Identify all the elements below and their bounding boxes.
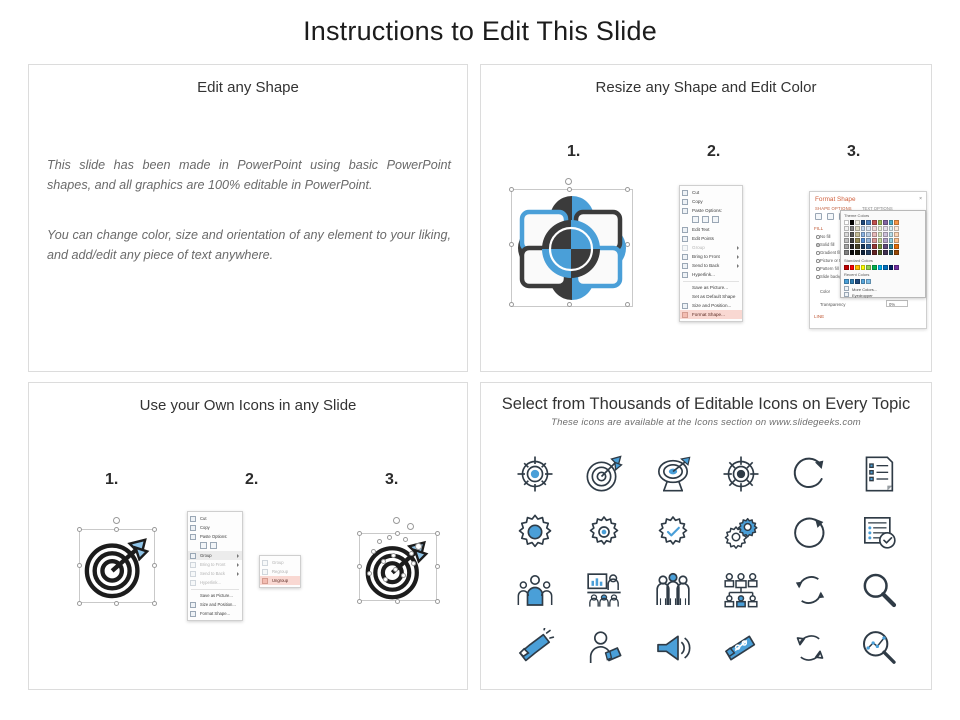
edit-shape-paragraph-1: This slide has been made in PowerPoint u… — [47, 155, 451, 196]
color-swatch[interactable] — [872, 226, 877, 231]
chevron-right-icon — [237, 572, 239, 576]
refresh-circle-icon[interactable] — [790, 512, 830, 552]
color-swatch[interactable] — [878, 244, 883, 249]
edit-shape-paragraph-2: You can change color, size and orientati… — [47, 225, 451, 266]
ctx-item-hyperlink[interactable]: Hyperlink... — [680, 270, 742, 279]
format-shape-pane[interactable]: Format Shape × SHAPE OPTIONS TEXT OPTION… — [809, 191, 927, 329]
standard-colors-label: Standard Colors — [844, 258, 873, 263]
ctx-item-copy[interactable]: Copy — [680, 197, 742, 206]
eyedropper-item[interactable]: Eyedropper — [852, 293, 873, 298]
group-icon — [262, 560, 268, 566]
submenu-item-group: Group — [260, 558, 300, 567]
color-swatch[interactable] — [861, 279, 866, 284]
color-swatch[interactable] — [883, 244, 888, 249]
ctx2-item-hyperlink: Hyperlink... — [188, 578, 242, 587]
submenu-item-regroup: Regroup — [260, 567, 300, 576]
chevron-right-icon — [237, 563, 239, 567]
color-swatch[interactable] — [894, 238, 899, 243]
people-row-icon[interactable] — [653, 570, 693, 610]
edit-points-icon — [682, 236, 688, 242]
size-position-icon — [682, 303, 688, 309]
color-swatch[interactable] — [850, 238, 855, 243]
format-shape-icon — [190, 611, 196, 617]
radio-solid-fill[interactable] — [816, 243, 820, 247]
transparency-value: 0% — [889, 302, 895, 307]
color-swatch[interactable] — [855, 244, 860, 249]
color-swatch[interactable] — [855, 250, 860, 255]
theme-color-row-2[interactable] — [844, 226, 899, 231]
paste-keep-text-icon[interactable] — [712, 216, 719, 223]
ctx2-item-group[interactable]: Group — [188, 551, 242, 560]
color-swatch[interactable] — [844, 238, 849, 243]
close-icon[interactable]: × — [919, 196, 922, 202]
icon-gallery-grid — [501, 445, 913, 677]
color-swatch[interactable] — [855, 265, 860, 270]
paste-picture-icon[interactable] — [210, 542, 217, 549]
more-colors-item[interactable]: More Colors... — [852, 287, 877, 292]
format-shape-icon — [682, 312, 688, 318]
edit-text-icon — [682, 227, 688, 233]
ctx2-item-cut[interactable]: Cut — [188, 514, 242, 523]
document-approved-icon[interactable] — [859, 512, 899, 552]
icons-step-number-3: 3. — [385, 471, 398, 489]
color-swatch[interactable] — [866, 238, 871, 243]
color-swatch[interactable] — [894, 265, 899, 270]
color-swatch[interactable] — [878, 232, 883, 237]
color-swatch[interactable] — [878, 250, 883, 255]
ctx-item-edit-points[interactable]: Edit Points — [680, 234, 742, 243]
gear-check-icon[interactable] — [653, 512, 693, 552]
copy-icon — [682, 199, 688, 205]
page-title: Instructions to Edit This Slide — [0, 16, 960, 47]
color-swatch[interactable] — [878, 226, 883, 231]
circular-arrows-icon[interactable] — [790, 628, 830, 668]
label-solid-fill: Solid fill — [820, 242, 834, 247]
label-gradient-fill: Gradient fill — [820, 250, 841, 255]
chevron-right-icon — [737, 264, 739, 268]
team-group-icon[interactable] — [515, 570, 555, 610]
step-number-1: 1. — [567, 143, 580, 161]
cut-icon — [190, 516, 196, 522]
theme-color-row-1[interactable] — [844, 220, 899, 225]
color-swatch[interactable] — [844, 220, 849, 225]
menu-divider — [191, 589, 239, 590]
recent-colors-label: Recent Colors — [844, 272, 869, 277]
slide-canvas: Instructions to Edit This Slide Edit any… — [0, 0, 960, 720]
paste-option-icons[interactable] — [188, 541, 242, 551]
label-color: Color — [820, 289, 830, 294]
ctx2-item-send-to-back: Send to Back — [188, 569, 242, 578]
bring-to-front-icon — [190, 562, 196, 568]
gear-small-icon[interactable] — [584, 512, 624, 552]
speaker-announce-icon[interactable] — [653, 628, 693, 668]
icons-step-number-1: 1. — [105, 471, 118, 489]
panel-own-icons: Use your Own Icons in any Slide 1. 2. 3. — [28, 382, 468, 690]
icons-context-menu[interactable]: Cut Copy Paste Options: Group Bring to F… — [187, 511, 243, 621]
ctx-item-send-to-back[interactable]: Send to Back — [680, 261, 742, 270]
group-icon — [682, 245, 688, 251]
chevron-right-icon — [237, 554, 239, 558]
panel-heading-own-icons: Use your Own Icons in any Slide — [29, 397, 467, 414]
hyperlink-icon — [682, 272, 688, 278]
paste-keep-formatting-icon[interactable] — [200, 542, 207, 549]
ctx2-item-paste-options[interactable]: Paste Options: — [188, 532, 242, 541]
paste-option-icons[interactable] — [680, 215, 742, 225]
color-swatch[interactable] — [861, 244, 866, 249]
panel-heading-resize-shape: Resize any Shape and Edit Color — [481, 79, 931, 96]
color-swatch[interactable] — [883, 232, 888, 237]
color-swatch[interactable] — [866, 226, 871, 231]
color-swatch[interactable] — [861, 232, 866, 237]
ctx-item-edit-text[interactable]: Edit Text — [680, 225, 742, 234]
color-swatch[interactable] — [855, 220, 860, 225]
group-submenu[interactable]: Group Regroup Ungroup — [259, 555, 301, 588]
magnifier-analytics-icon[interactable] — [859, 628, 899, 668]
color-swatch[interactable] — [883, 220, 888, 225]
standard-color-row[interactable] — [844, 265, 899, 270]
color-swatch[interactable] — [866, 265, 871, 270]
ctx2-item-format-shape[interactable]: Format Shape... — [188, 609, 242, 618]
color-swatch[interactable] — [872, 238, 877, 243]
color-swatch[interactable] — [889, 226, 894, 231]
chevron-right-icon — [737, 255, 739, 259]
color-swatch[interactable] — [866, 250, 871, 255]
format-shape-title: Format Shape — [815, 196, 856, 203]
submenu-item-ungroup[interactable]: Ungroup — [260, 576, 300, 585]
ctx-item-bring-to-front[interactable]: Bring to Front — [680, 252, 742, 261]
section-fill-label[interactable]: FILL — [814, 226, 823, 231]
color-swatch[interactable] — [894, 220, 899, 225]
color-swatch[interactable] — [861, 265, 866, 270]
effects-pentagon-icon[interactable] — [827, 213, 834, 220]
icons-step3-graphic[interactable] — [347, 513, 447, 613]
ctx-item-cut[interactable]: Cut — [680, 188, 742, 197]
theme-color-row-5[interactable] — [844, 244, 899, 249]
target-crosshair-icon[interactable] — [515, 454, 555, 494]
dartboard-arrow-icon[interactable] — [584, 454, 624, 494]
rotate-clockwise-arrow-icon[interactable] — [790, 454, 830, 494]
panel-edit-any-shape: Edit any Shape This slide has been made … — [28, 64, 468, 372]
chevron-right-icon — [737, 246, 739, 250]
color-swatch[interactable] — [883, 238, 888, 243]
color-swatch[interactable] — [850, 226, 855, 231]
more-colors-icon — [844, 286, 849, 291]
panel-resize-shape: Resize any Shape and Edit Color 1. 2. 3. — [480, 64, 932, 372]
color-swatch[interactable] — [889, 265, 894, 270]
ctx2-item-size-and-position[interactable]: Size and Position... — [188, 600, 242, 609]
panel-subheading-editable-icons: These icons are available at the Icons s… — [481, 417, 931, 428]
color-swatch[interactable] — [889, 232, 894, 237]
color-swatch[interactable] — [866, 279, 871, 284]
color-swatch[interactable] — [872, 265, 877, 270]
group-icon — [190, 553, 196, 559]
color-swatch[interactable] — [844, 250, 849, 255]
panel-editable-icons: Select from Thousands of Editable Icons … — [480, 382, 932, 690]
panel-heading-editable-icons: Select from Thousands of Editable Icons … — [481, 395, 931, 414]
ctx-item-format-shape[interactable]: Format Shape... — [680, 310, 742, 319]
megaphone-discount-icon[interactable] — [721, 628, 761, 668]
radio-picture-fill[interactable] — [816, 259, 820, 263]
theme-color-row-4[interactable] — [844, 238, 899, 243]
paste-icon — [682, 208, 688, 214]
color-swatch[interactable] — [844, 232, 849, 237]
color-swatch[interactable] — [850, 232, 855, 237]
resize-context-menu[interactable]: Cut Copy Paste Options: Edit Text Edit P… — [679, 185, 743, 322]
icons-step-number-2: 2. — [245, 471, 258, 489]
color-swatch[interactable] — [872, 232, 877, 237]
step-number-3: 3. — [847, 143, 860, 161]
color-swatch[interactable] — [844, 226, 849, 231]
color-swatch[interactable] — [844, 244, 849, 249]
menu-divider — [683, 281, 739, 282]
color-swatch[interactable] — [872, 244, 877, 249]
color-swatch[interactable] — [883, 265, 888, 270]
fill-bucket-icon[interactable] — [815, 213, 822, 220]
target-stand-icon[interactable] — [653, 454, 693, 494]
hyperlink-icon — [190, 580, 196, 586]
radio-no-fill[interactable] — [816, 235, 820, 239]
theme-color-row-6[interactable] — [844, 250, 899, 255]
panel-heading-edit-shape: Edit any Shape — [29, 79, 467, 96]
resize-step1-graphic[interactable] — [505, 183, 639, 313]
icons-step1-graphic[interactable] — [67, 513, 167, 613]
cut-icon — [682, 190, 688, 196]
magnifier-icon[interactable] — [859, 570, 899, 610]
recent-color-row[interactable] — [844, 279, 871, 284]
color-swatch[interactable] — [894, 244, 899, 249]
section-line-label[interactable]: LINE — [814, 314, 824, 319]
regroup-icon — [262, 569, 268, 575]
color-swatch[interactable] — [883, 250, 888, 255]
color-swatch[interactable] — [861, 220, 866, 225]
ctx-item-paste-options[interactable]: Paste Options: — [680, 206, 742, 215]
color-swatch[interactable] — [878, 238, 883, 243]
send-to-back-icon — [682, 263, 688, 269]
ctx-item-group: Group — [680, 243, 742, 252]
color-swatch[interactable] — [850, 265, 855, 270]
step-number-2: 2. — [707, 143, 720, 161]
color-swatch[interactable] — [883, 226, 888, 231]
color-swatch[interactable] — [866, 244, 871, 249]
color-swatch[interactable] — [844, 279, 849, 284]
color-swatch[interactable] — [866, 232, 871, 237]
color-swatch[interactable] — [889, 220, 894, 225]
label-transparency: Transparency — [820, 302, 845, 307]
crosshair-dot-icon[interactable] — [721, 454, 761, 494]
bring-to-front-icon — [682, 254, 688, 260]
color-swatch[interactable] — [894, 250, 899, 255]
color-swatch[interactable] — [855, 226, 860, 231]
megaphone-icon[interactable] — [515, 628, 555, 668]
color-swatch[interactable] — [861, 238, 866, 243]
ctx-item-size-and-position[interactable]: Size and Position... — [680, 301, 742, 310]
radio-pattern-fill[interactable] — [816, 267, 820, 271]
color-swatch[interactable] — [855, 279, 860, 284]
color-swatch[interactable] — [850, 279, 855, 284]
color-swatch[interactable] — [894, 226, 899, 231]
paste-picture-icon[interactable] — [702, 216, 709, 223]
color-dropdown[interactable]: Theme Colors Standard Colors Recent Colo… — [840, 210, 926, 298]
presentation-audience-icon[interactable] — [584, 570, 624, 610]
color-swatch[interactable] — [872, 220, 877, 225]
theme-color-row-3[interactable] — [844, 232, 899, 237]
color-swatch[interactable] — [850, 244, 855, 249]
color-swatch[interactable] — [878, 265, 883, 270]
size-position-icon — [190, 602, 196, 608]
checklist-document-icon[interactable] — [859, 454, 899, 494]
gears-pair-icon[interactable] — [721, 512, 761, 552]
eyedropper-icon — [844, 292, 849, 297]
color-swatch[interactable] — [844, 265, 849, 270]
color-swatch[interactable] — [861, 250, 866, 255]
ctx2-item-copy[interactable]: Copy — [188, 523, 242, 532]
copy-icon — [190, 525, 196, 531]
paste-icon — [190, 534, 196, 540]
org-chart-people-icon[interactable] — [721, 570, 761, 610]
color-swatch[interactable] — [861, 226, 866, 231]
color-swatch[interactable] — [850, 250, 855, 255]
color-swatch[interactable] — [850, 220, 855, 225]
radio-slide-background-fill[interactable] — [816, 275, 820, 279]
color-swatch[interactable] — [855, 232, 860, 237]
send-to-back-icon — [190, 571, 196, 577]
paste-keep-formatting-icon[interactable] — [692, 216, 699, 223]
gear-filled-icon[interactable] — [515, 512, 555, 552]
person-megaphone-icon[interactable] — [584, 628, 624, 668]
label-no-fill: No fill — [820, 234, 830, 239]
color-swatch[interactable] — [878, 220, 883, 225]
theme-colors-label: Theme Colors — [844, 213, 869, 218]
color-swatch[interactable] — [889, 250, 894, 255]
color-swatch[interactable] — [855, 238, 860, 243]
dartboard-arrow-icon — [82, 532, 152, 600]
four-quadrant-shape-icon — [512, 190, 632, 306]
ungroup-icon — [262, 578, 268, 584]
color-swatch[interactable] — [889, 244, 894, 249]
color-swatch[interactable] — [889, 238, 894, 243]
color-swatch[interactable] — [866, 220, 871, 225]
radio-gradient-fill[interactable] — [816, 251, 820, 255]
ctx2-item-save-as-picture[interactable]: Save as Picture... — [188, 591, 242, 600]
ctx2-item-bring-to-front: Bring to Front — [188, 560, 242, 569]
color-swatch[interactable] — [894, 232, 899, 237]
label-pattern-fill: Pattern fill — [820, 266, 839, 271]
color-swatch[interactable] — [872, 250, 877, 255]
ctx-item-set-default-shape[interactable]: Set as Default Shape — [680, 292, 742, 301]
sync-arrows-icon[interactable] — [790, 570, 830, 610]
ctx-item-save-as-picture[interactable]: Save as Picture... — [680, 283, 742, 292]
